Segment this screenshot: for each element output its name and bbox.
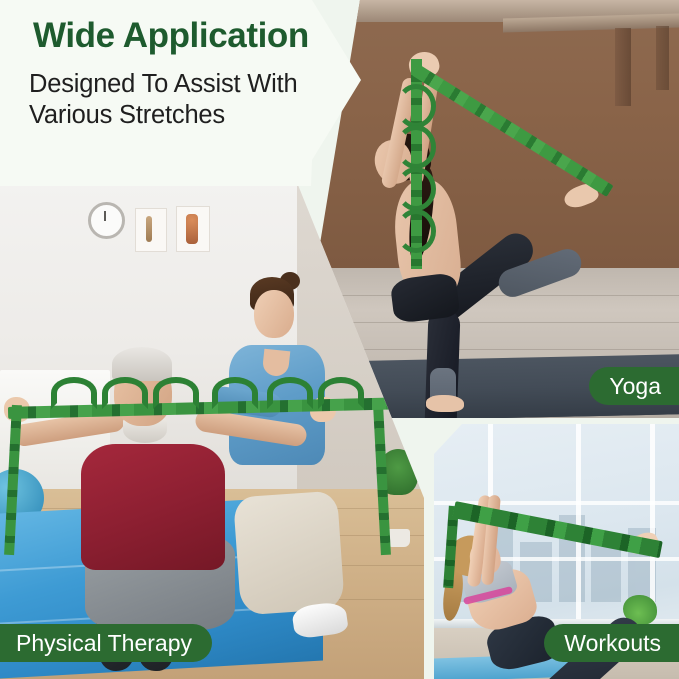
panel-workouts: Workouts	[434, 424, 679, 679]
badge-physical-therapy: Physical Therapy	[0, 624, 212, 662]
badge-workouts-label: Workouts	[564, 630, 661, 657]
yoga-strap-loop	[396, 125, 436, 169]
yoga-strap-loop	[396, 167, 436, 211]
yoga-strap-loop	[396, 209, 436, 253]
headline-subtitle-line: Designed To Assist With	[29, 69, 297, 100]
pt-strap-loop	[212, 377, 258, 409]
pt-muscle-diagram	[186, 214, 198, 244]
yoga-standing-foot	[426, 395, 464, 412]
yoga-wall-corbel-secondary	[656, 26, 669, 90]
badge-physical-therapy-label: Physical Therapy	[16, 630, 192, 657]
pt-wall-clock	[88, 202, 125, 239]
pt-strap-loop	[153, 377, 199, 409]
headline-title: Wide Application	[33, 16, 309, 56]
yoga-sports-bra	[389, 272, 460, 324]
pt-spine-diagram	[146, 216, 152, 242]
infographic-root: Yoga	[0, 0, 679, 679]
pt-patient-shirt	[81, 444, 225, 570]
pt-strap-loop	[51, 377, 97, 409]
badge-workouts: Workouts	[544, 624, 679, 662]
headline-subtitle-line: Various Stretches	[29, 100, 297, 131]
yoga-wall-corbel	[615, 28, 631, 106]
headline-subtitle: Designed To Assist With Various Stretche…	[29, 69, 297, 131]
pt-therapist-head	[254, 290, 294, 338]
yoga-strap-loop	[396, 84, 436, 128]
pt-strap-loop	[318, 377, 364, 409]
pt-strap-loop	[267, 377, 313, 409]
pt-strap-loop	[102, 377, 148, 409]
badge-yoga: Yoga	[589, 367, 679, 405]
badge-yoga-label: Yoga	[609, 373, 661, 400]
pt-therapist-trousers	[233, 491, 345, 616]
pt-patient-hair	[112, 347, 172, 381]
